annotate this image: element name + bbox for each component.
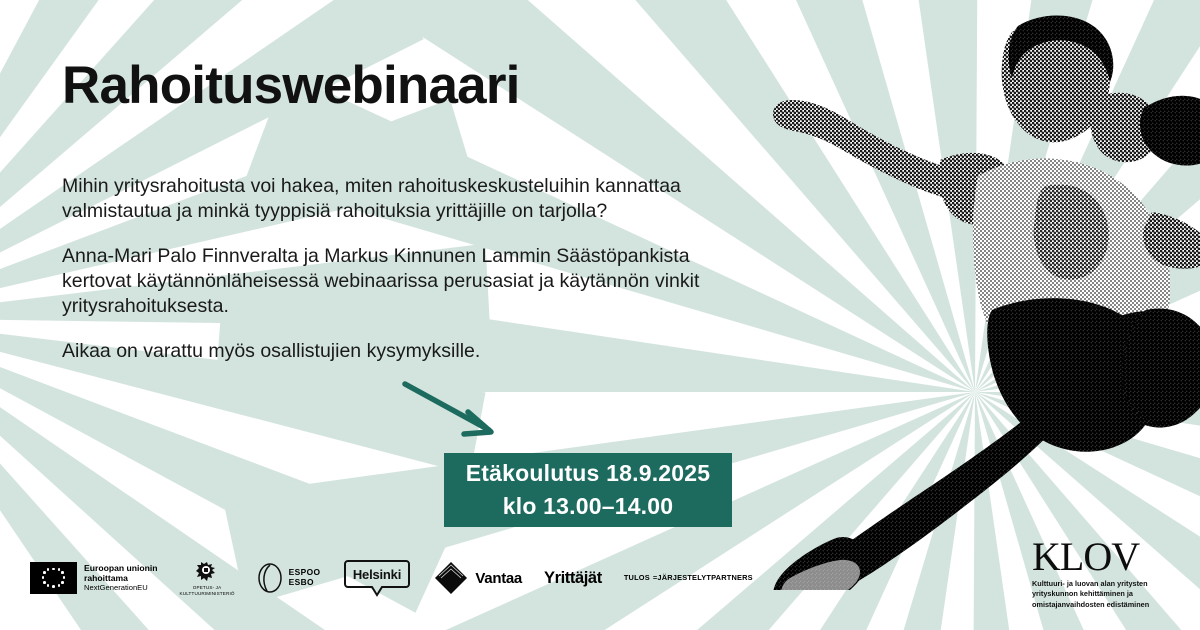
helsinki-label: Helsinki [353,567,401,582]
vantaa-diamond-icon [434,561,468,595]
paragraph-intro: Mihin yritysrahoitusta voi hakea, miten … [62,174,727,225]
yrittajat-label: Yrittäjät [544,569,602,588]
paragraph-speakers: Anna-Mari Palo Finnveralta ja Markus Kin… [62,244,727,320]
klov-wordmark: KLOV [1032,538,1192,576]
date-banner-line2: klo 13.00–14.00 [503,490,674,523]
logo-tulos-jarjestelyt-partners: TULOS = JÄRJESTELYT PARTNERS [624,573,753,582]
klov-tagline: Kulttuuri- ja luovan alan yritysten yrit… [1032,579,1192,610]
logo-vantaa: Vantaa [434,561,522,595]
body-copy: Mihin yritysrahoitusta voi hakea, miten … [62,174,727,364]
ministry-label-line2: KULTTUURIMINISTERIÖ [180,591,235,597]
arrow-icon [396,372,506,444]
vantaa-label: Vantaa [475,570,522,587]
paragraph-questions: Aikaa on varattu myös osallistujien kysy… [62,339,727,364]
poster-canvas: Rahoituswebinaari Mihin yritysrahoitusta… [0,0,1200,630]
eu-label-line2: rahoittama [84,573,158,583]
klov-tagline-line3: omistajanvaihdosten edistäminen [1032,600,1192,610]
espoo-label-sv: ESBO [289,578,321,588]
klov-tagline-line1: Kulttuuri- ja luovan alan yritysten [1032,579,1192,589]
date-banner-line1: Etäkoulutus 18.9.2025 [466,457,711,490]
espoo-mark-icon [257,562,283,594]
tulos-label-line2: JÄRJESTELYT [657,573,711,582]
page-title: Rahoituswebinaari [62,58,520,114]
klov-tagline-line2: yrityskunnon kehittäminen ja [1032,589,1192,599]
date-banner: Etäkoulutus 18.9.2025 klo 13.00–14.00 [444,453,732,527]
eu-label-line3: NextGenerationEU [84,584,158,593]
logo-ministry-of-education-and-culture: OPETUS- JA KULTTUURIMINISTERIÖ [180,559,235,596]
finnish-lion-icon [195,559,219,584]
logo-klov: KLOV Kulttuuri- ja luovan alan yritysten… [1032,538,1192,610]
eu-flag-icon [30,562,77,594]
logo-yrittajat: Yrittäjät [544,569,602,588]
logo-european-union: Euroopan unionin rahoittama NextGenerati… [30,562,158,594]
partner-logo-strip: Euroopan unionin rahoittama NextGenerati… [30,552,753,604]
logo-helsinki: Helsinki [342,558,412,598]
tulos-label-line1: TULOS [624,573,650,582]
eu-label-line1: Euroopan unionin [84,563,158,573]
logo-espoo: ESPOO ESBO [257,562,321,594]
helsinki-bubble-icon: Helsinki [342,558,412,598]
tulos-label-line3: PARTNERS [711,573,753,582]
